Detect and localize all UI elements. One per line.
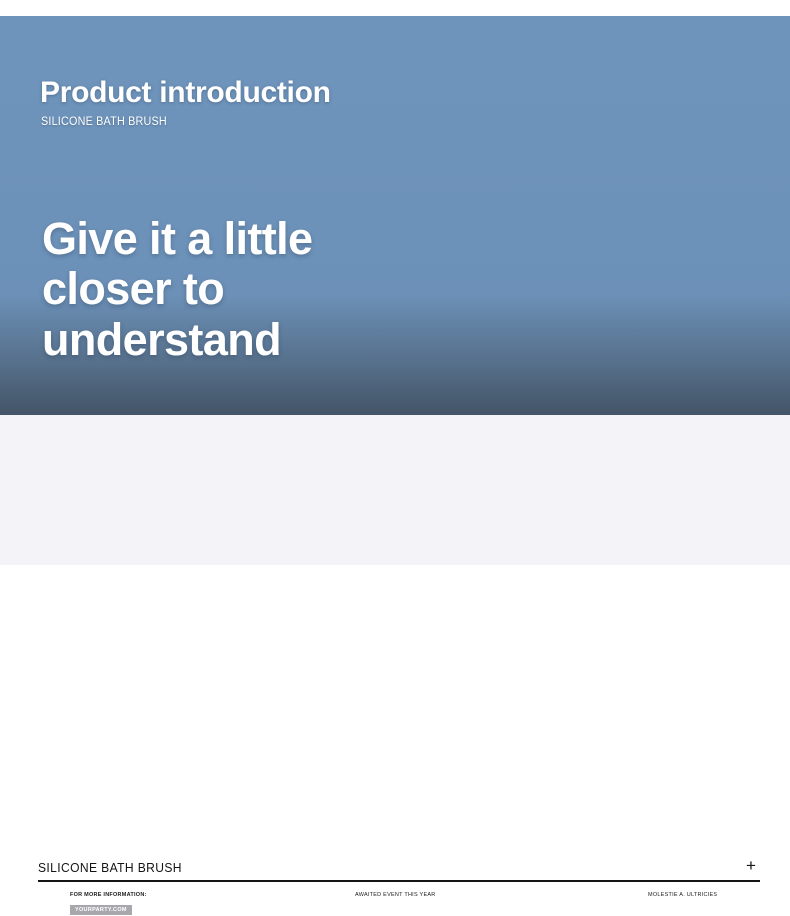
hero-banner: Product introduction SILICONE BATH BRUSH… [0,16,790,415]
footer-divider [38,880,760,882]
footer-column-1-label: FOR MORE INFORMATION: [70,892,147,898]
footer-section: SILICONE BATH BRUSH + FOR MORE INFORMATI… [0,415,790,565]
hero-headline-line-1: Give it a little [42,214,313,264]
product-introduction-page: Product introduction SILICONE BATH BRUSH… [0,0,790,565]
hero-headline-line-2: closer to [42,264,313,314]
website-badge[interactable]: YOURPARTY.COM [70,905,132,915]
plus-icon[interactable]: + [744,859,758,873]
hero-title: Product introduction [40,76,331,109]
footer-heading: SILICONE BATH BRUSH [38,860,182,875]
footer-column-extra: MOLESTIE A. ULTRICIES [648,892,717,898]
top-white-strip [0,0,790,16]
hero-headline: Give it a little closer to understand [42,214,313,365]
footer-column-information: FOR MORE INFORMATION: YOURPARTY.COM [70,892,147,916]
footer-column-event: AWAITED EVENT THIS YEAR [355,892,436,898]
hero-headline-line-3: understand [42,315,313,365]
hero-subtitle: SILICONE BATH BRUSH [41,116,167,128]
footer-column-2-label: AWAITED EVENT THIS YEAR [355,892,436,898]
footer-column-3-label: MOLESTIE A. ULTRICIES [648,892,717,898]
